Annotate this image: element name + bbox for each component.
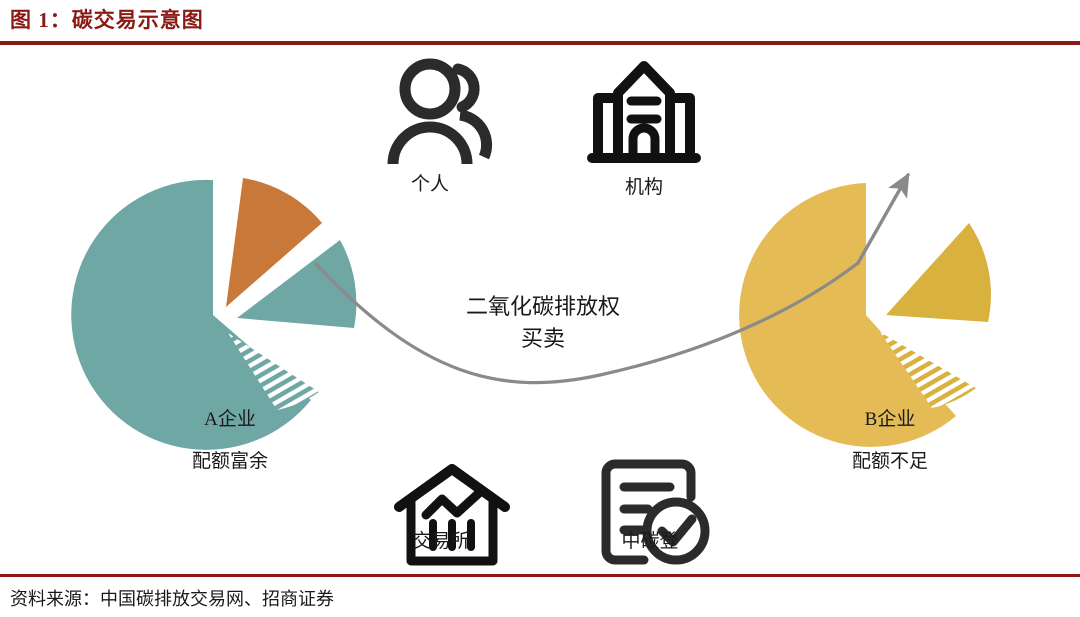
diagram-canvas: 个人 机构 交易所 中碳登 A企业 配额富余 B企业 配额不足 二氧化碳排放权 … [0,45,1080,573]
company-a-name: A企业 [192,410,268,430]
individual-label: 个人 [411,175,449,195]
institution-label: 机构 [625,178,663,198]
registry-label: 中碳登 [621,532,678,552]
figure-source: 资料来源：中国碳排放交易网、招商证券 [10,585,334,611]
figure-container: 图 1：碳交易示意图 [0,0,1080,617]
company-a-status: 配额富余 [192,452,268,472]
flow-label: 二氧化碳排放权 买卖 [466,291,620,355]
flow-label-line1: 二氧化碳排放权 [466,291,620,323]
company-a-label: A企业 配额富余 [192,410,268,472]
company-b-label: B企业 配额不足 [852,410,928,472]
exchange-label: 交易所 [412,532,469,552]
pie-slice-b-exploded [886,223,991,322]
figure-title: 图 1：碳交易示意图 [10,4,204,34]
flow-label-line2: 买卖 [466,323,620,355]
company-b-status: 配额不足 [852,452,928,472]
building-icon [592,66,696,158]
company-b-name: B企业 [852,410,928,430]
source-divider [0,574,1080,577]
two-persons-icon [393,64,487,164]
